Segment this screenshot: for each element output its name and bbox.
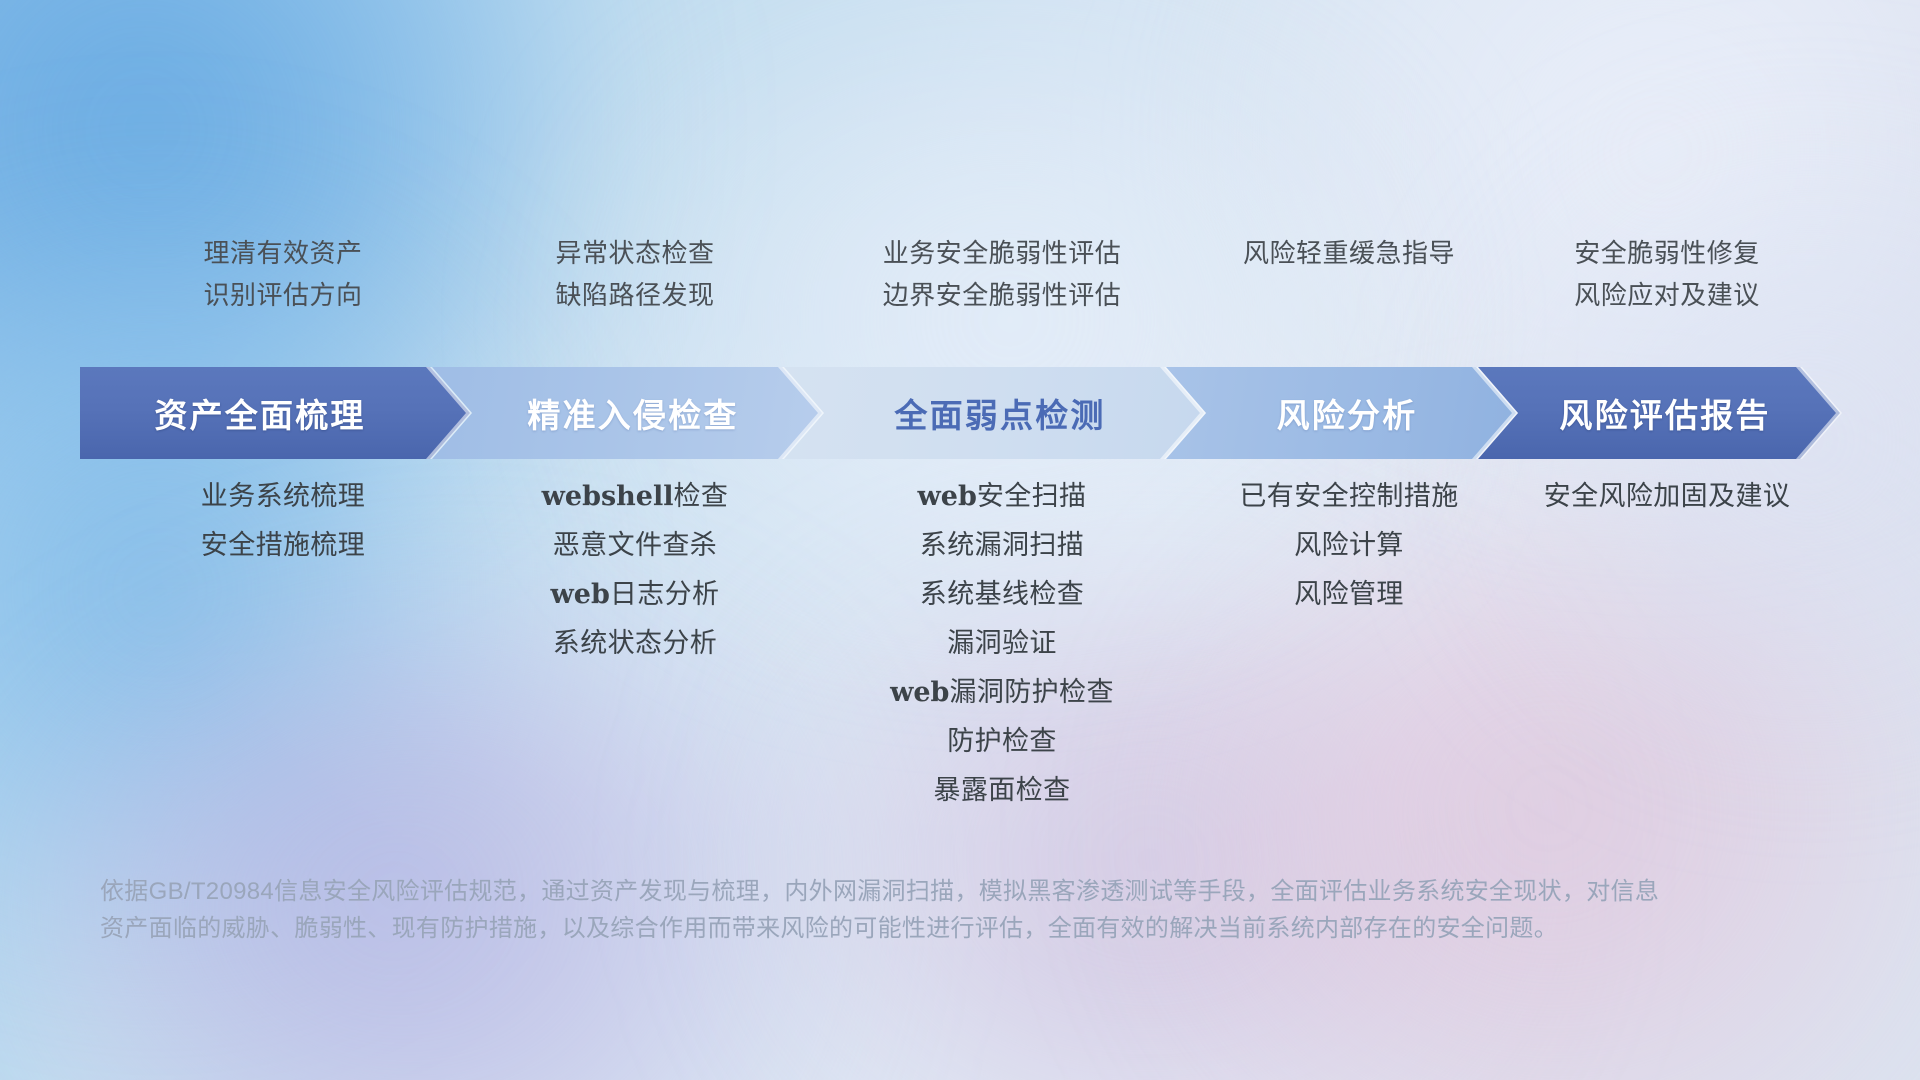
detail-item-text: 风险计算 — [1294, 530, 1404, 560]
detail-list-item: 安全风险加固及建议 — [1544, 472, 1791, 521]
process-arrow-label: 风险分析 — [1277, 389, 1418, 437]
detail-item-text: 暴露面检查 — [934, 775, 1071, 805]
top-caption-line: 边界安全脆弱性评估 — [883, 274, 1122, 316]
detail-item-text: 漏洞防护检查 — [949, 677, 1113, 707]
detail-item-text: 风险管理 — [1294, 579, 1404, 609]
top-caption-line: 安全脆弱性修复 — [1574, 232, 1760, 274]
process-arrow-banner: 资产全面梳理精准入侵检查全面弱点检测风险分析风险评估报告 — [80, 367, 1840, 459]
footer-line-2: 资产面临的威胁、脆弱性、现有防护措施，以及综合作用而带来风险的可能性进行评估，全… — [100, 910, 1780, 947]
detail-item-term: webshell — [542, 481, 674, 512]
detail-list-item: 系统漏洞扫描 — [920, 521, 1084, 570]
detail-list-item: 系统状态分析 — [553, 619, 717, 668]
detail-item-text: 系统状态分析 — [553, 628, 717, 658]
detail-list-item: 暴露面检查 — [934, 766, 1071, 815]
process-arrow-label: 风险评估报告 — [1559, 389, 1770, 437]
detail-item-text: 安全风险加固及建议 — [1544, 481, 1791, 511]
detail-item-term: web — [918, 481, 977, 512]
detail-list-item: 风险计算 — [1294, 521, 1404, 570]
detail-item-text: 恶意文件查杀 — [553, 530, 717, 560]
top-caption-group-risk-report: 安全脆弱性修复风险应对及建议 — [1417, 232, 1917, 316]
detail-list-risk-report: 安全风险加固及建议 — [1417, 472, 1917, 521]
slide-canvas: 理清有效资产识别评估方向异常状态检查缺陷路径发现业务安全脆弱性评估边界安全脆弱性… — [0, 0, 1920, 1080]
detail-list-item: 风险管理 — [1294, 570, 1404, 619]
detail-item-text: 系统基线检查 — [920, 579, 1084, 609]
detail-item-text: 安全扫描 — [977, 481, 1087, 511]
detail-list-item: web漏洞防护检查 — [890, 668, 1114, 717]
footer-description: 依据GB/T20984信息安全风险评估规范，通过资产发现与梳理，内外网漏洞扫描，… — [100, 873, 1780, 947]
detail-list-item: 漏洞验证 — [947, 619, 1057, 668]
top-caption-line: 业务安全脆弱性评估 — [883, 232, 1122, 274]
top-caption-line: 异常状态检查 — [555, 232, 714, 274]
detail-item-term: web — [551, 579, 610, 610]
detail-list-item: 恶意文件查杀 — [553, 521, 717, 570]
detail-list-item: 系统基线检查 — [920, 570, 1084, 619]
process-arrow-weakness-detection[interactable]: 全面弱点检测 — [784, 367, 1204, 459]
detail-item-text: 防护检查 — [947, 726, 1057, 756]
top-caption-line: 理清有效资产 — [203, 232, 362, 274]
top-caption-line: 风险应对及建议 — [1574, 274, 1760, 316]
process-arrow-asset-inventory[interactable]: 资产全面梳理 — [80, 367, 470, 459]
detail-list-item: 安全措施梳理 — [201, 521, 365, 570]
process-arrow-risk-report[interactable]: 风险评估报告 — [1478, 367, 1840, 459]
process-arrow-label: 资产全面梳理 — [154, 389, 365, 437]
diagram-content: 理清有效资产识别评估方向异常状态检查缺陷路径发现业务安全脆弱性评估边界安全脆弱性… — [0, 0, 1920, 1080]
detail-item-text: 检查 — [674, 481, 729, 511]
process-arrow-risk-analysis[interactable]: 风险分析 — [1166, 367, 1516, 459]
footer-line-1: 依据GB/T20984信息安全风险评估规范，通过资产发现与梳理，内外网漏洞扫描，… — [100, 873, 1780, 910]
process-arrow-label: 全面弱点检测 — [894, 389, 1105, 437]
process-arrow-intrusion-check[interactable]: 精准入侵检查 — [432, 367, 822, 459]
detail-item-text: 系统漏洞扫描 — [920, 530, 1084, 560]
top-caption-line: 识别评估方向 — [203, 274, 362, 316]
detail-list-item: web日志分析 — [551, 570, 720, 619]
detail-item-text: 安全措施梳理 — [201, 530, 365, 560]
detail-item-text: 漏洞验证 — [947, 628, 1057, 658]
detail-list-item: 业务系统梳理 — [201, 472, 365, 521]
process-arrow-label: 精准入侵检查 — [527, 389, 738, 437]
detail-item-term: web — [890, 677, 949, 708]
detail-list-item: webshell检查 — [542, 472, 729, 521]
detail-item-text: 业务系统梳理 — [201, 481, 365, 511]
detail-item-text: 日志分析 — [610, 579, 720, 609]
detail-list-item: web安全扫描 — [918, 472, 1087, 521]
detail-list-item: 防护检查 — [947, 717, 1057, 766]
top-caption-line: 缺陷路径发现 — [555, 274, 714, 316]
